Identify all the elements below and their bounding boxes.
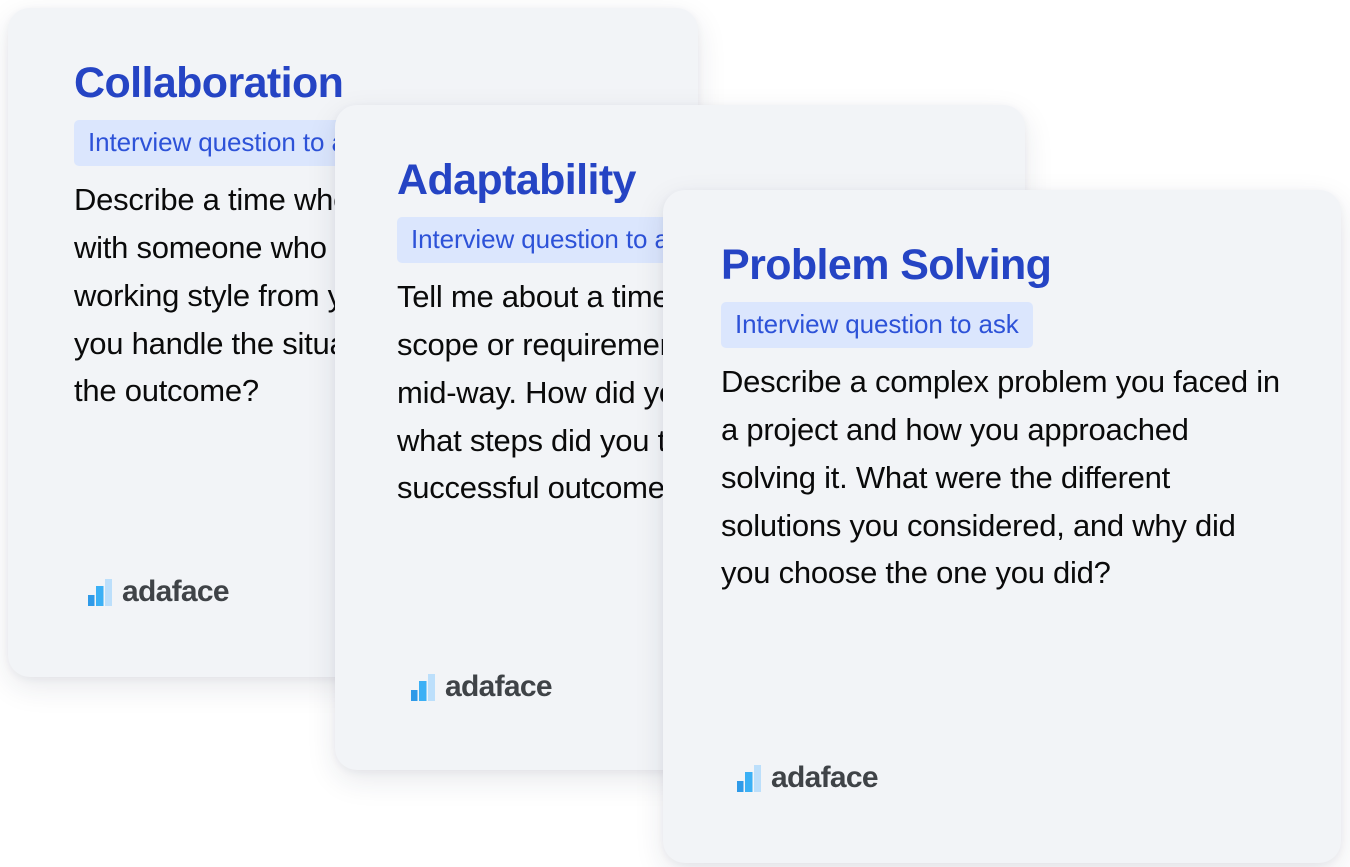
brand-name-label: adaface bbox=[445, 672, 552, 702]
brand-logo: adaface bbox=[88, 577, 229, 607]
interview-question-text: Describe a complex problem you faced in … bbox=[721, 358, 1281, 597]
skill-card-problem-solving[interactable]: Problem Solving Interview question to as… bbox=[663, 190, 1341, 863]
brand-logo: adaface bbox=[737, 763, 878, 793]
brand-logo: adaface bbox=[411, 672, 552, 702]
status-badge: Interview question to ask bbox=[721, 302, 1033, 348]
bar-chart-icon bbox=[411, 674, 436, 701]
page-title: Collaboration bbox=[74, 60, 698, 106]
bar-chart-icon bbox=[737, 765, 762, 792]
brand-name-label: adaface bbox=[771, 763, 878, 793]
status-badge: Interview question to ask bbox=[397, 217, 709, 263]
page-title: Problem Solving bbox=[721, 242, 1341, 288]
card-stack-canvas: Collaboration Interview question to ask … bbox=[0, 0, 1350, 867]
brand-name-label: adaface bbox=[122, 577, 229, 607]
bar-chart-icon bbox=[88, 579, 113, 606]
badge-row: Interview question to ask bbox=[721, 302, 1341, 348]
card-content: Problem Solving Interview question to as… bbox=[721, 242, 1341, 863]
